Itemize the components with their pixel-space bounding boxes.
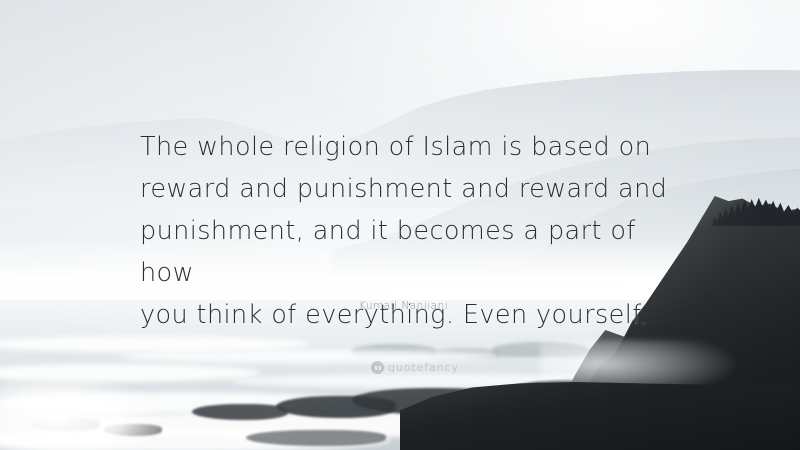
foreground-rock-mass bbox=[400, 382, 800, 450]
quote-author: Kumail Nanjiani bbox=[359, 300, 448, 312]
watermark-label: quotefancy bbox=[388, 362, 459, 373]
sea-rock bbox=[192, 404, 288, 420]
wave-splash bbox=[0, 378, 160, 450]
quote-image-canvas: The whole religion of Islam is based on … bbox=[0, 0, 800, 450]
watermark[interactable]: quotefancy bbox=[371, 361, 459, 374]
quote-mark-icon bbox=[371, 361, 384, 374]
sea-rock bbox=[276, 396, 396, 418]
sea-rock bbox=[246, 430, 386, 446]
